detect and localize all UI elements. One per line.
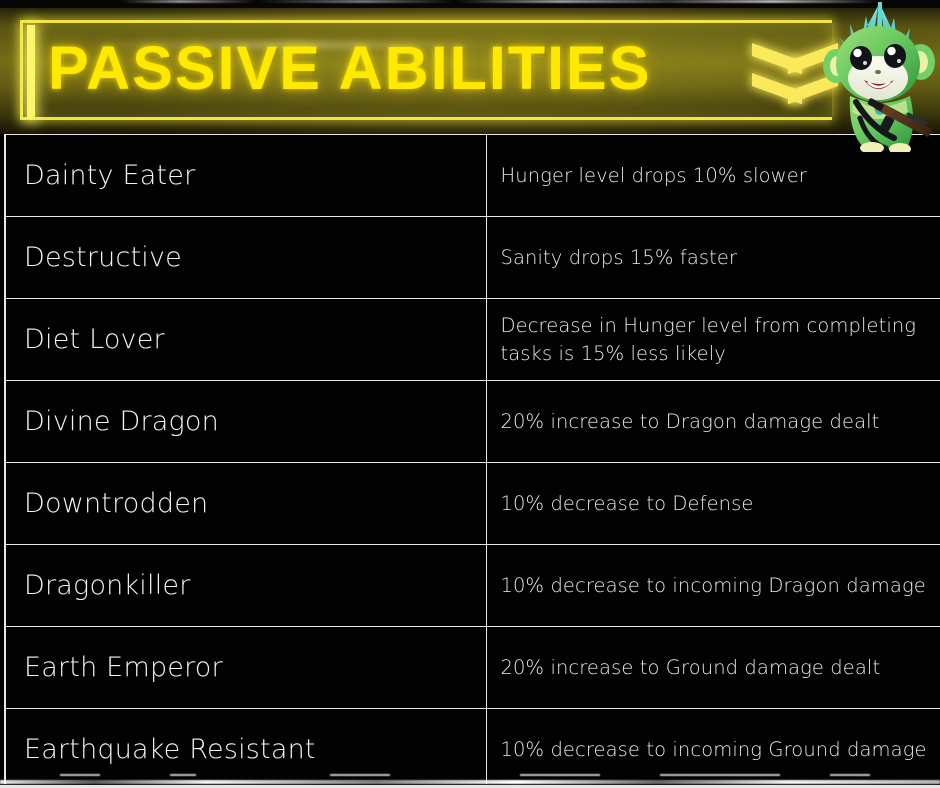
ability-description: Decrease in Hunger level from completing… [501,312,931,368]
ability-description: 10% decrease to Defense [501,490,931,518]
ability-description: 10% decrease to incoming Ground damage [501,736,931,764]
ability-desc-cell: Decrease in Hunger level from completing… [486,299,940,381]
ability-description: 20% increase to Dragon damage dealt [501,408,931,436]
table-row[interactable]: Earth Emperor 20% increase to Ground dam… [5,627,940,709]
ability-name-cell: Earth Emperor [5,627,486,709]
ability-desc-cell: Sanity drops 15% faster [486,217,940,299]
table-row[interactable]: Diet Lover Decrease in Hunger level from… [5,299,940,381]
ability-name: Divine Dragon [24,405,486,439]
ability-desc-cell: 20% increase to Dragon damage dealt [486,381,940,463]
ability-name: Destructive [24,241,486,275]
ability-description: 10% decrease to incoming Dragon damage [501,572,931,600]
ability-name-cell: Dainty Eater [5,135,486,217]
ability-name: Earthquake Resistant [24,733,486,767]
ability-desc-cell: 20% increase to Ground damage dealt [486,627,940,709]
table-row[interactable]: Earthquake Resistant 10% decrease to inc… [5,709,940,788]
ability-description: Hunger level drops 10% slower [501,162,931,190]
passive-abilities-page: PASSIVE ABILITIES [0,0,940,788]
page-title: PASSIVE ABILITIES [48,32,651,104]
abilities-table-container: Dainty Eater Hunger level drops 10% slow… [0,134,940,788]
ability-name-cell: Dragonkiller [5,545,486,627]
ability-desc-cell: 10% decrease to incoming Ground damage [486,709,940,788]
ability-description: Sanity drops 15% faster [501,244,931,272]
ability-description: 20% increase to Ground damage dealt [501,654,931,682]
ability-desc-cell: 10% decrease to incoming Dragon damage [486,545,940,627]
table-row[interactable]: Downtrodden 10% decrease to Defense [5,463,940,545]
ability-name: Downtrodden [24,487,486,521]
ability-name-cell: Downtrodden [5,463,486,545]
table-row[interactable]: Dainty Eater Hunger level drops 10% slow… [5,135,940,217]
bottom-black-edge [0,784,940,788]
ability-name: Earth Emperor [24,651,486,685]
table-row[interactable]: Dragonkiller 10% decrease to incoming Dr… [5,545,940,627]
header-banner: PASSIVE ABILITIES [0,6,940,134]
top-edge-strip [0,0,940,8]
ability-name: Dragonkiller [24,569,486,603]
ability-name-cell: Earthquake Resistant [5,709,486,788]
table-row[interactable]: Destructive Sanity drops 15% faster [5,217,940,299]
passive-abilities-table: Dainty Eater Hunger level drops 10% slow… [4,134,940,788]
ability-desc-cell: 10% decrease to Defense [486,463,940,545]
ability-name: Diet Lover [24,323,486,357]
ability-name: Dainty Eater [24,159,486,193]
table-row[interactable]: Divine Dragon 20% increase to Dragon dam… [5,381,940,463]
green-monkey-mascot-icon [820,0,938,152]
ability-name-cell: Divine Dragon [5,381,486,463]
ability-name-cell: Destructive [5,217,486,299]
ability-name-cell: Diet Lover [5,299,486,381]
